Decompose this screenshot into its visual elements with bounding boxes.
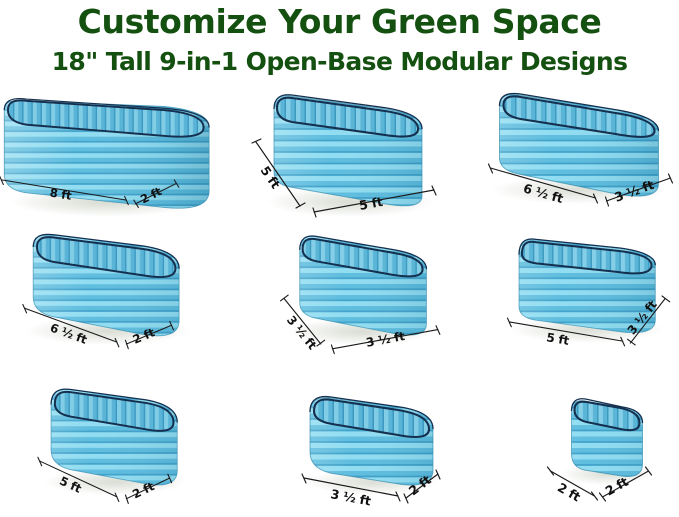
planter-illustration-4: 3 ½ ft 3 ½ ft <box>252 224 464 368</box>
planter-card-3[interactable]: 6 ½ ft 2 ft <box>4 224 244 368</box>
infographic-canvas: Customize Your Green Space 18" Tall 9-in… <box>0 0 679 517</box>
dimension-length-label-5: 5 ft <box>545 330 570 348</box>
planter-illustration-1: 5 ft 5 ft <box>244 84 466 228</box>
planter-card-5[interactable]: 5 ft 3 ½ ft <box>466 224 679 368</box>
planter-card-7[interactable]: 3 ½ ft 2 ft <box>264 374 470 517</box>
planter-card-1[interactable]: 5 ft 5 ft <box>244 84 466 228</box>
planter-card-4[interactable]: 3 ½ ft 3 ½ ft <box>252 224 464 368</box>
planter-illustration-2: 6 ½ ft 3 ½ ft <box>462 84 679 228</box>
planter-card-2[interactable]: 6 ½ ft 3 ½ ft <box>462 84 679 228</box>
planter-illustration-5: 5 ft 3 ½ ft <box>466 224 679 368</box>
planter-illustration-8: 2 ft 2 ft <box>490 374 679 517</box>
planter-illustration-6: 5 ft 2 ft <box>4 374 244 517</box>
planter-illustration-0: 8 ft 2 ft <box>0 84 242 228</box>
dimension-width-label-8: 2 ft <box>555 480 583 505</box>
planter-illustration-7: 3 ½ ft 2 ft <box>264 374 470 517</box>
planter-illustration-3: 6 ½ ft 2 ft <box>4 224 244 368</box>
planter-card-6[interactable]: 5 ft 2 ft <box>4 374 244 517</box>
planter-card-0[interactable]: 8 ft 2 ft <box>0 84 242 228</box>
page-title: Customize Your Green Space <box>0 2 679 42</box>
page-subtitle: 18" Tall 9-in-1 Open-Base Modular Design… <box>0 46 679 78</box>
planter-grid: 8 ft 2 ft <box>0 84 679 517</box>
planter-card-8[interactable]: 2 ft 2 ft <box>490 374 679 517</box>
